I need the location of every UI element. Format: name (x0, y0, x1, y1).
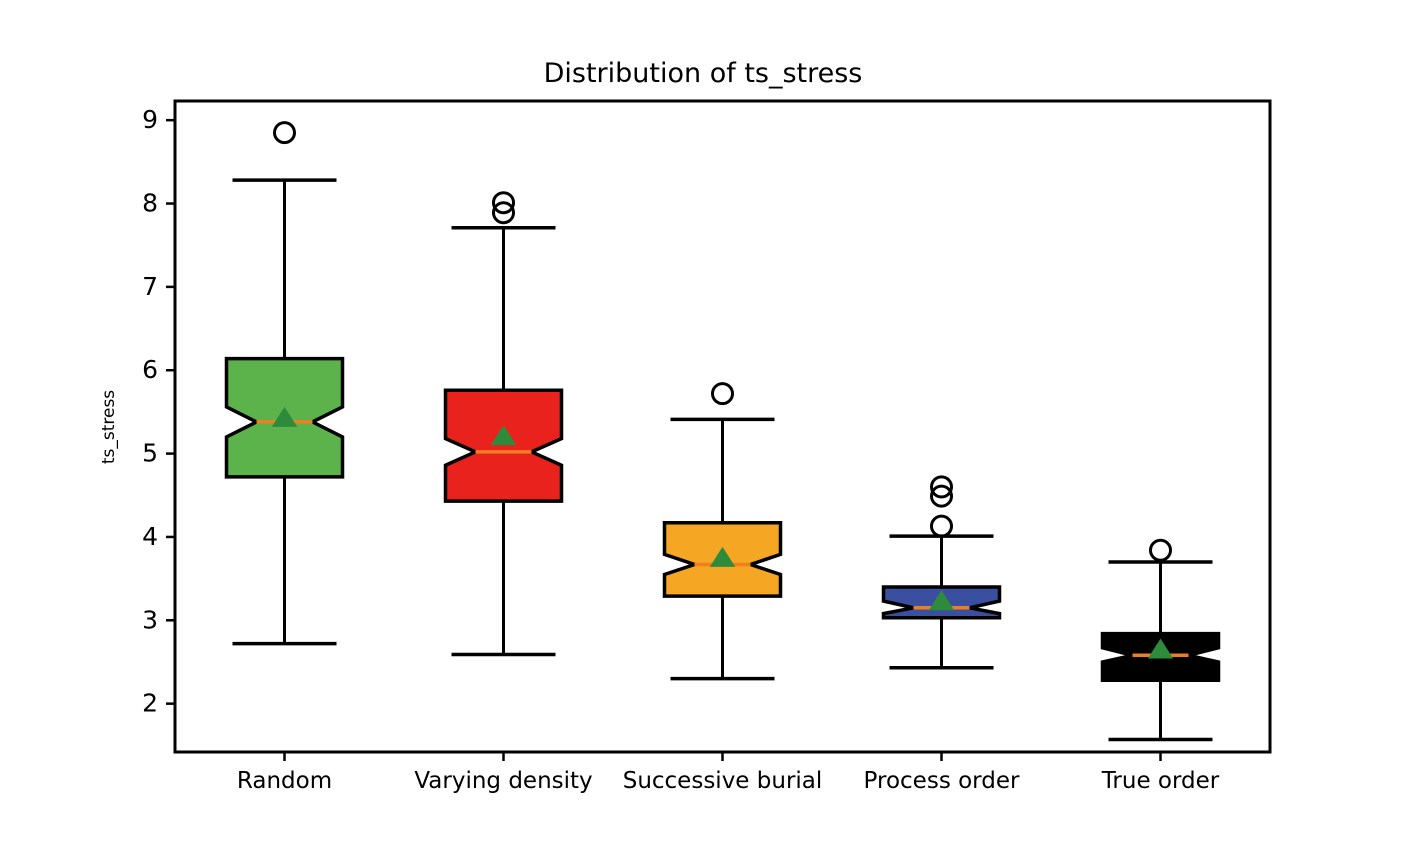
boxplot-group-varying-density (446, 193, 562, 655)
y-axis-tick-label: 4 (142, 522, 158, 551)
box-body[interactable] (446, 390, 562, 501)
y-axis-tick-label: 9 (142, 105, 158, 134)
y-axis-tick-label: 5 (142, 439, 158, 468)
boxplot-group-true-order (1103, 540, 1219, 739)
x-axis-tick-label: True order (1101, 768, 1220, 794)
boxplot-group-successive-burial (665, 384, 781, 679)
y-axis-tick-label: 8 (142, 189, 158, 218)
boxplot-chart: 23456789RandomVarying densitySuccessive … (0, 0, 1406, 853)
outlier-point[interactable] (275, 123, 295, 143)
outlier-point[interactable] (1151, 540, 1171, 560)
boxplot-group-random (227, 123, 343, 644)
y-axis-tick-label: 3 (142, 605, 158, 634)
outlier-point[interactable] (932, 516, 952, 536)
x-axis-tick-label: Successive burial (623, 768, 823, 794)
y-axis-tick-label: 6 (142, 355, 158, 384)
outlier-point[interactable] (713, 384, 733, 404)
boxplot-group-process-order (884, 477, 1000, 668)
x-axis-tick-label: Process order (864, 768, 1020, 794)
x-axis-tick-label: Varying density (414, 768, 592, 794)
y-axis-tick-label: 2 (142, 689, 158, 718)
x-axis-tick-label: Random (237, 768, 332, 794)
y-axis-tick-label: 7 (142, 272, 158, 301)
figure-canvas: Distribution of ts_stress ts_stress 2345… (0, 0, 1406, 853)
